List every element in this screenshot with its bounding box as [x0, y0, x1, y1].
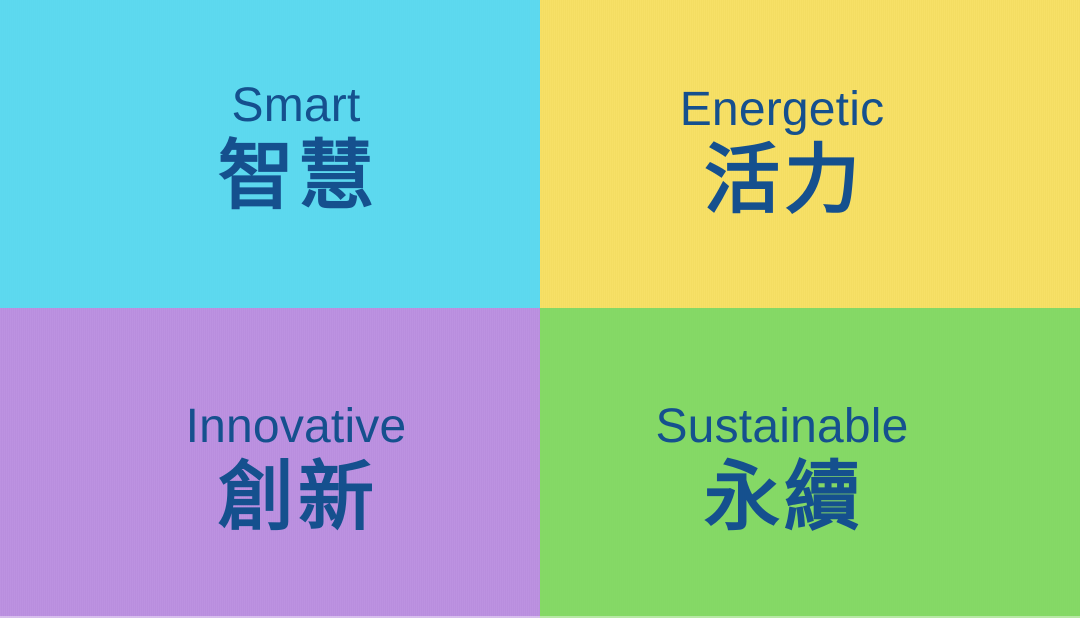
quadrant-label-chinese: 活力 [700, 143, 864, 219]
quadrant-text-block: Energetic 活力 [680, 86, 885, 219]
quadrant-text-block: Smart 智慧 [214, 82, 378, 215]
quadrant-text-block: Innovative 創新 [186, 403, 407, 536]
quadrant-label-chinese: 永續 [700, 460, 864, 536]
quadrant-label-english: Smart [231, 82, 360, 130]
brand-values-quadrant: Smart 智慧 Energetic 活力 Innovative 創新 Sust… [0, 0, 1080, 618]
quadrant-innovative: Innovative 創新 [0, 308, 540, 618]
quadrant-label-english: Innovative [186, 403, 407, 451]
quadrant-energetic: Energetic 活力 [540, 0, 1080, 308]
quadrant-label-english: Sustainable [655, 403, 908, 451]
quadrant-text-block: Sustainable 永續 [655, 403, 908, 536]
quadrant-smart: Smart 智慧 [0, 0, 540, 308]
quadrant-label-english: Energetic [680, 86, 885, 134]
quadrant-sustainable: Sustainable 永續 [540, 308, 1080, 618]
quadrant-label-chinese: 創新 [214, 460, 378, 536]
quadrant-label-chinese: 智慧 [214, 139, 378, 215]
